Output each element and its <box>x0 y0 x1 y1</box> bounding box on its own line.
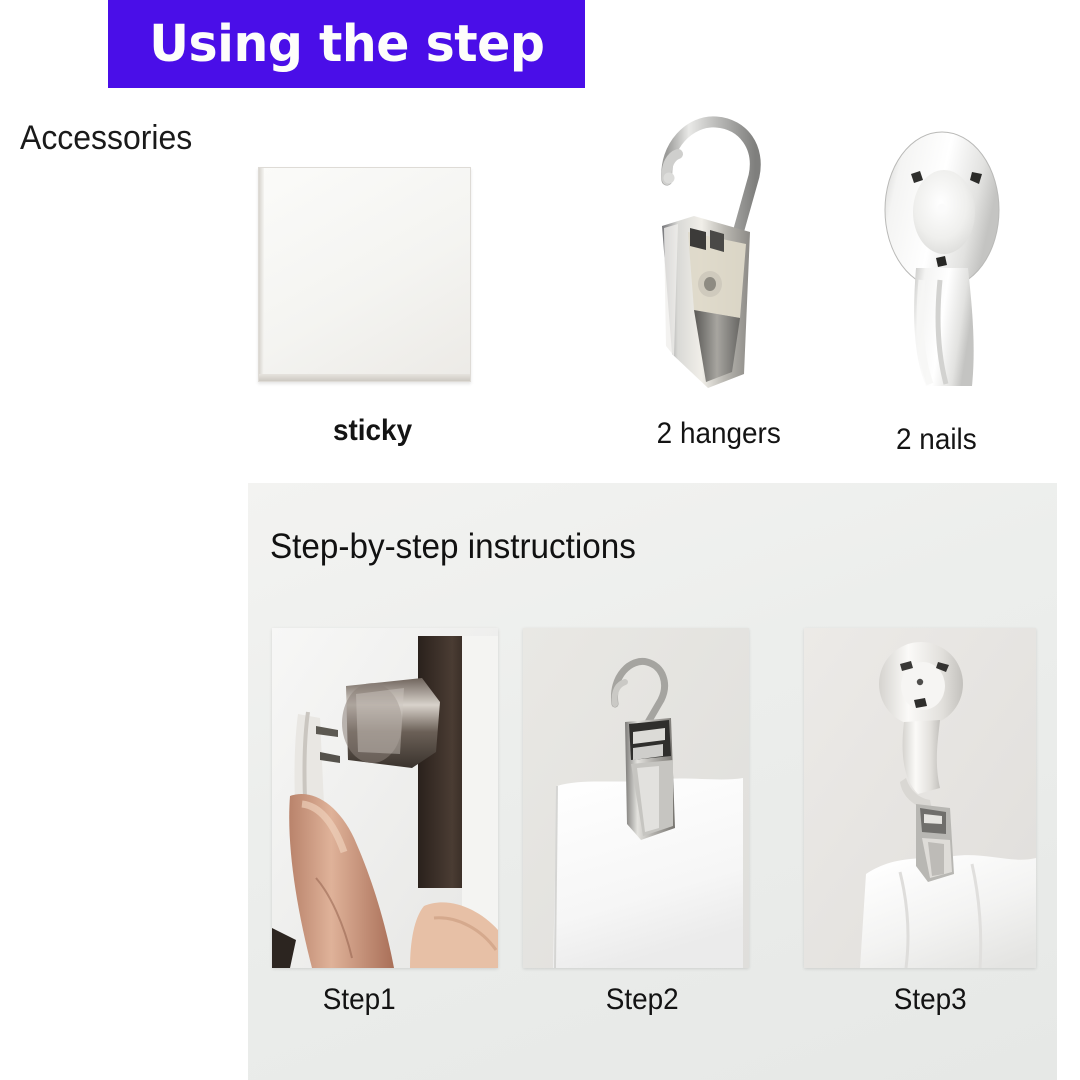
nail-hook-photo <box>880 128 1030 390</box>
page-title: Using the step <box>149 19 544 70</box>
sticky-pad-bottom-edge <box>259 374 470 381</box>
hook-with-clip-holding-cloth-photo <box>804 628 1036 968</box>
clip-gripping-sheet-photo <box>523 628 749 968</box>
step-photo-2 <box>523 628 749 968</box>
step-photo-1 <box>272 628 498 968</box>
sticky-pad-left-edge <box>259 168 264 381</box>
step-photo-3 <box>804 628 1036 968</box>
step-label-3: Step3 <box>894 983 967 1017</box>
title-banner: Using the step <box>108 0 585 88</box>
step-label-1: Step1 <box>323 983 396 1017</box>
caption-nails: 2 nails <box>896 423 977 457</box>
hanger-clip-illustration <box>632 104 812 394</box>
step-instructions-heading: Step-by-step instructions <box>270 527 636 567</box>
hanger-clip-photo <box>632 104 812 394</box>
wall-hook-illustration <box>880 128 1030 390</box>
step-label-2: Step2 <box>606 983 679 1017</box>
caption-hangers: 2 hangers <box>657 417 781 451</box>
caption-sticky: sticky <box>333 414 412 448</box>
step-by-step-panel: Step-by-step instructions <box>248 483 1057 1080</box>
hand-pressing-hook-photo <box>272 628 498 968</box>
sticky-pad-photo <box>258 167 471 382</box>
accessories-section-label: Accessories <box>20 119 192 158</box>
